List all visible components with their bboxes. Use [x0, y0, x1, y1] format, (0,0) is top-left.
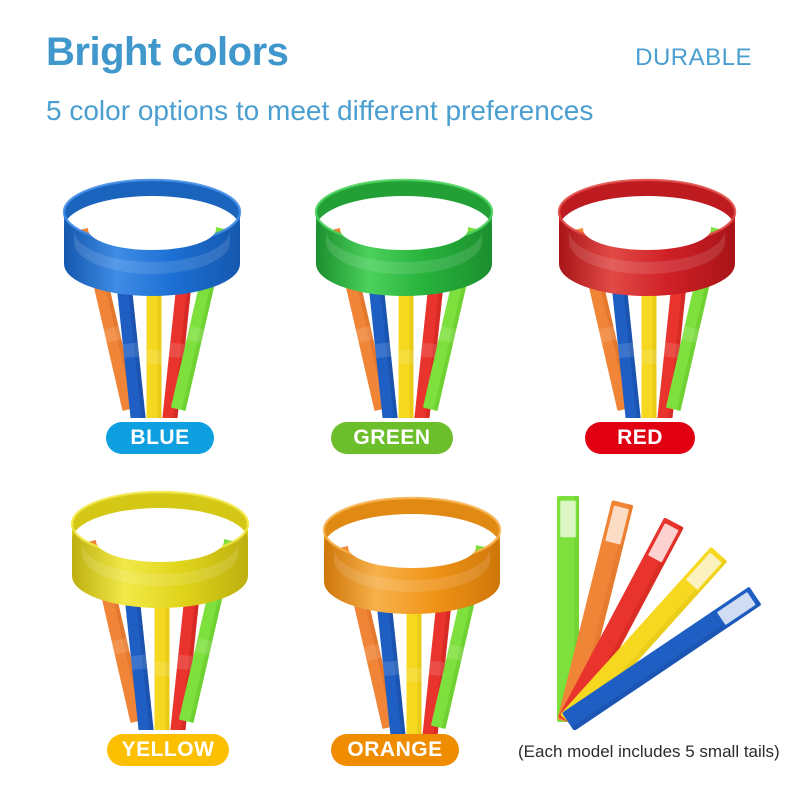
- product-blue[interactable]: [40, 150, 264, 418]
- loose-tails-fan[interactable]: [506, 480, 796, 730]
- product-green[interactable]: [292, 150, 516, 418]
- belt-band: [324, 498, 500, 614]
- label-green: GREEN: [331, 422, 453, 454]
- infographic-page: Bright colors DURABLE 5 color options to…: [0, 0, 800, 800]
- fan-illustration: [506, 480, 796, 730]
- belt-illustration-orange: [300, 468, 524, 736]
- page-title: Bright colors: [46, 32, 288, 72]
- belt-illustration-red: [535, 150, 759, 418]
- belt-illustration-blue: [40, 150, 264, 418]
- product-yellow[interactable]: [48, 462, 272, 730]
- belt-illustration-green: [292, 150, 516, 418]
- label-orange: ORANGE: [331, 734, 459, 766]
- fan-caption: (Each model includes 5 small tails): [518, 742, 780, 762]
- belt-band: [316, 180, 492, 296]
- durable-badge: DURABLE: [635, 44, 752, 72]
- belt-band: [72, 492, 248, 608]
- belt-band: [64, 180, 240, 296]
- label-yellow: YELLOW: [107, 734, 229, 766]
- label-blue: BLUE: [106, 422, 214, 454]
- label-red: RED: [585, 422, 695, 454]
- product-red[interactable]: [535, 150, 759, 418]
- belt-band: [559, 180, 735, 296]
- belt-illustration-yellow: [48, 462, 272, 730]
- product-orange[interactable]: [300, 468, 524, 736]
- page-subtitle: 5 color options to meet different prefer…: [46, 95, 593, 127]
